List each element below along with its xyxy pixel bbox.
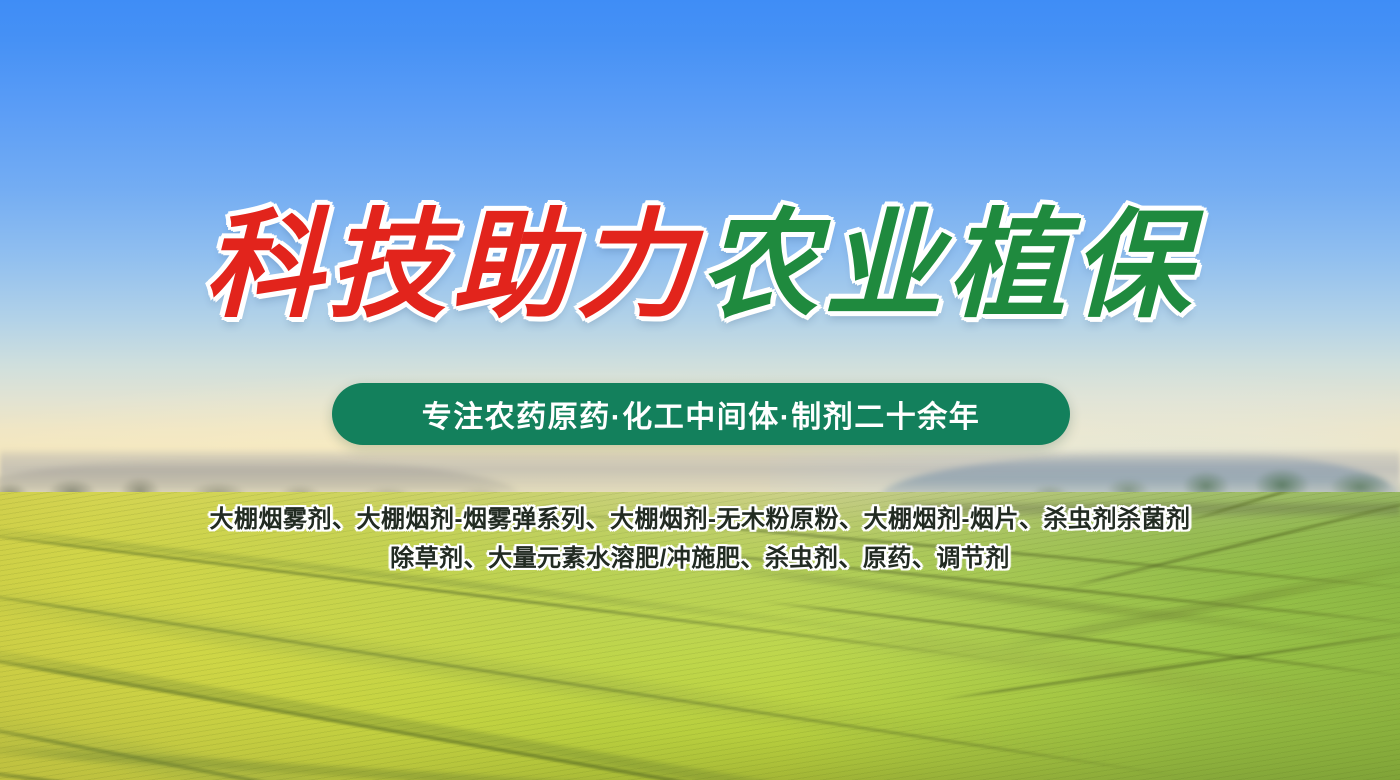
- title-red-segment: 科技助力: [204, 206, 700, 324]
- product-list: 大棚烟雾剂、大棚烟剂-烟雾弹系列、大棚烟剂-无木粉原粉、大棚烟剂-烟片、杀虫剂杀…: [0, 500, 1400, 578]
- product-line-1: 大棚烟雾剂、大棚烟剂-烟雾弹系列、大棚烟剂-无木粉原粉、大棚烟剂-烟片、杀虫剂杀…: [0, 500, 1400, 539]
- subtitle-pill: 专注农药原药·化工中间体·制剂二十余年: [332, 383, 1070, 445]
- main-title: 科技助力农业植保: [0, 206, 1400, 324]
- title-green-segment: 农业植保: [700, 206, 1196, 324]
- subtitle-text: 专注农药原药·化工中间体·制剂二十余年: [422, 392, 980, 436]
- hero-banner: 科技助力农业植保 专注农药原药·化工中间体·制剂二十余年 大棚烟雾剂、大棚烟剂-…: [0, 0, 1400, 780]
- product-line-2: 除草剂、大量元素水溶肥/冲施肥、杀虫剂、原药、调节剂: [0, 539, 1400, 578]
